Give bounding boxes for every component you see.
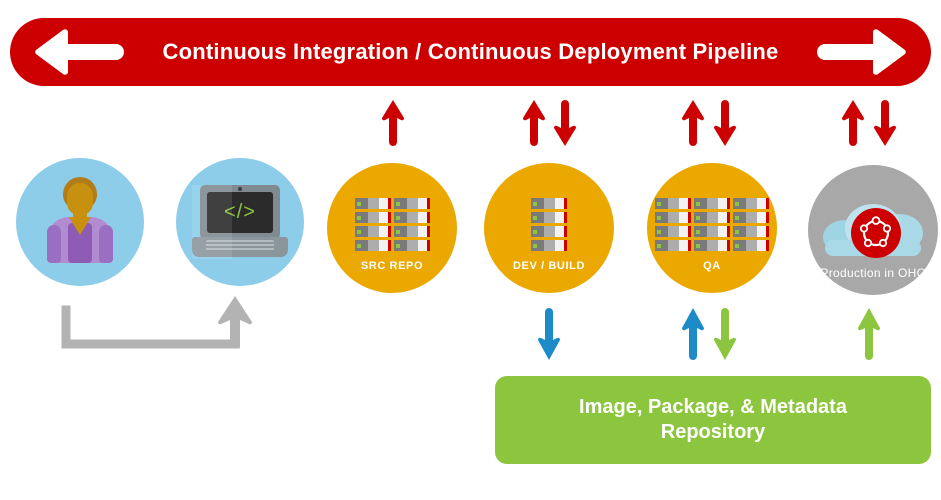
server-rack-icon bbox=[647, 197, 777, 251]
arrow-down-dev-build-repo bbox=[537, 308, 561, 365]
server-rack-icon bbox=[484, 197, 614, 251]
node-production[interactable]: Production in OHC bbox=[808, 165, 938, 295]
page-title: Continuous Integration / Continuous Depl… bbox=[163, 39, 779, 65]
developer-to-workstation-connector bbox=[60, 296, 255, 361]
cloud-openshift-icon bbox=[821, 194, 925, 264]
server-rack-icon bbox=[327, 197, 457, 251]
laptop-code-icon: </> bbox=[192, 185, 288, 259]
node-developer[interactable] bbox=[16, 158, 144, 286]
arrow-down-qa bbox=[713, 100, 737, 151]
repository-label: Image, Package, & Metadata Repository bbox=[579, 395, 847, 445]
arrow-down-production bbox=[873, 100, 897, 151]
arrow-up-qa bbox=[681, 100, 705, 151]
arrow-up-production-repo bbox=[857, 308, 881, 365]
node-label-src-repo: SRC REPO bbox=[327, 260, 457, 273]
node-label-production: Production in OHC bbox=[808, 267, 938, 281]
arrow-right-icon bbox=[817, 29, 909, 75]
person-icon bbox=[43, 177, 117, 263]
node-label-dev-build: DEV / BUILD bbox=[484, 260, 614, 273]
diagram-canvas: Continuous Integration / Continuous Depl… bbox=[0, 0, 941, 500]
arrow-up-dev-build bbox=[522, 100, 546, 151]
node-workstation[interactable]: </> bbox=[176, 158, 304, 286]
node-qa[interactable]: QA bbox=[647, 163, 777, 293]
arrow-left-icon bbox=[32, 29, 124, 75]
arrow-up-production bbox=[841, 100, 865, 151]
node-dev-build[interactable]: DEV / BUILD bbox=[484, 163, 614, 293]
repository-box[interactable]: Image, Package, & Metadata Repository bbox=[495, 376, 931, 464]
node-src-repo[interactable]: SRC REPO bbox=[327, 163, 457, 293]
cicd-pipeline-banner: Continuous Integration / Continuous Depl… bbox=[10, 18, 931, 86]
openshift-logo-icon bbox=[851, 208, 901, 258]
node-label-qa: QA bbox=[647, 260, 777, 273]
arrow-down-dev-build bbox=[553, 100, 577, 151]
arrow-up-qa-repo bbox=[681, 308, 705, 365]
arrow-down-qa-repo bbox=[713, 308, 737, 365]
arrow-up-src-repo bbox=[381, 100, 405, 151]
